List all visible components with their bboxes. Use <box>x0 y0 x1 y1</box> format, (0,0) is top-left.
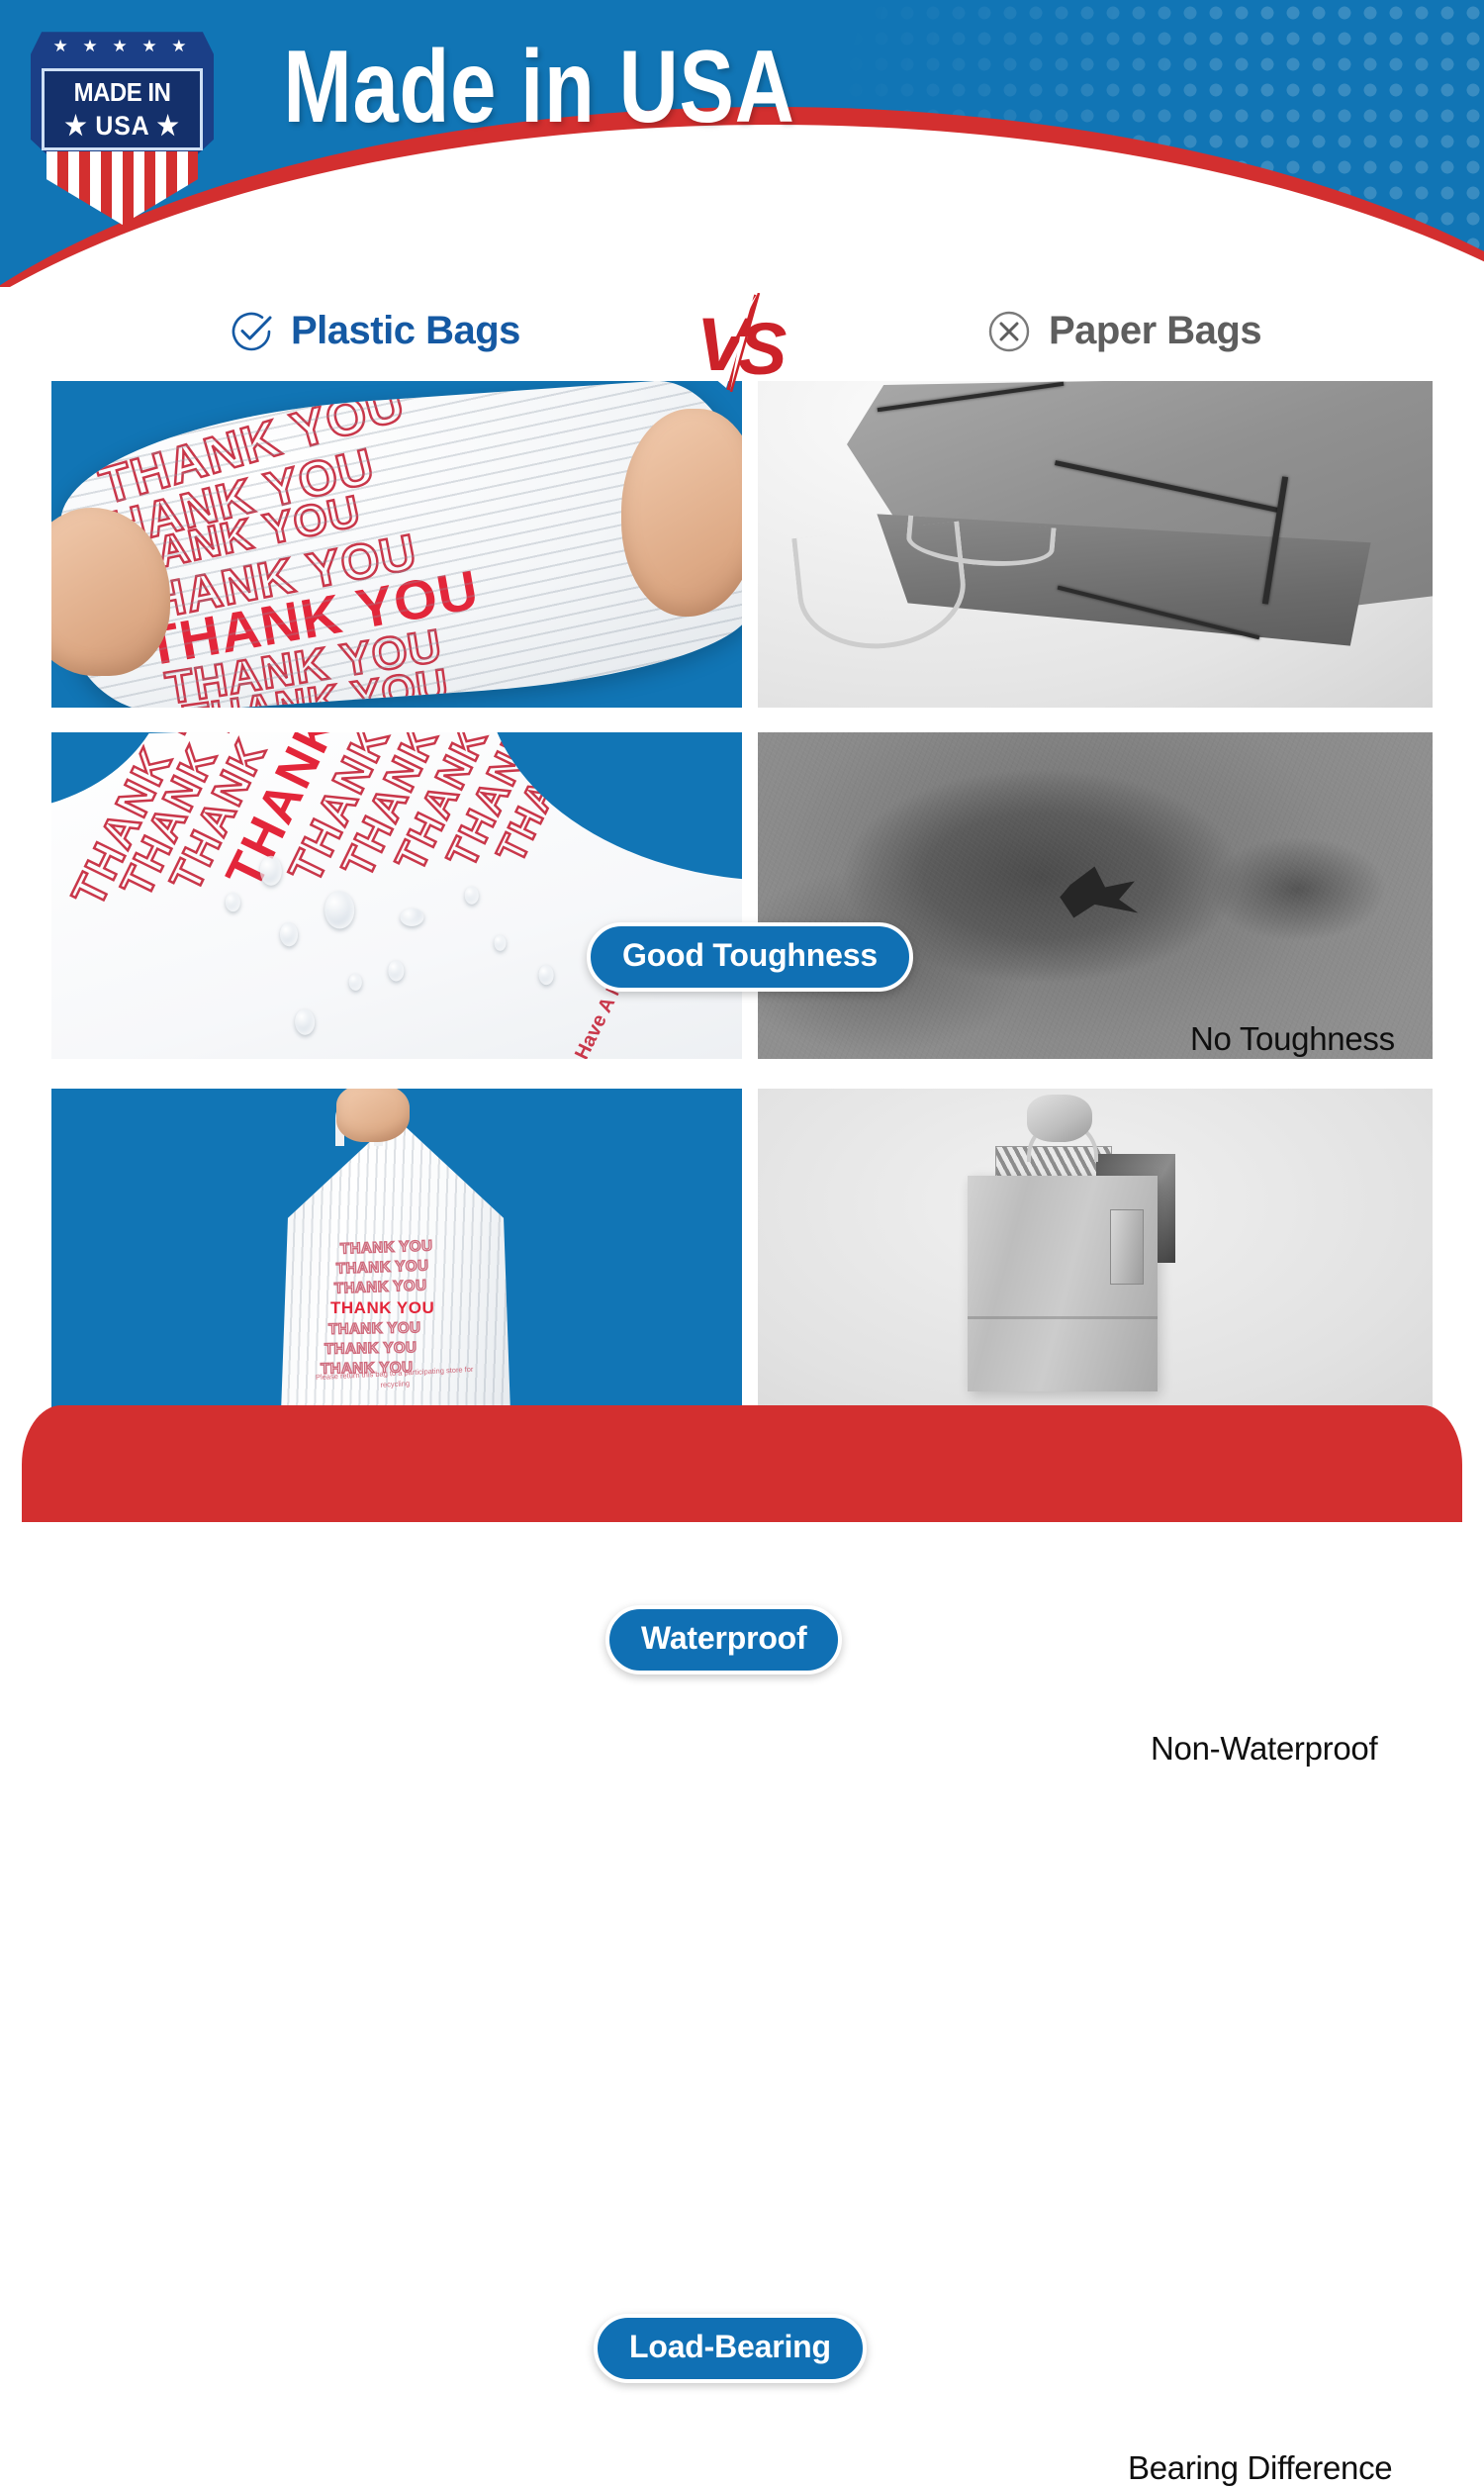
water-droplet <box>280 922 299 947</box>
hand-holding-paper-bag <box>1027 1095 1092 1142</box>
paper-photo-toughness <box>758 381 1433 708</box>
made-in-usa-badge: ★ ★ ★ ★ ★ MADE IN ★ USA ★ <box>31 22 214 225</box>
badge-flag-stripes <box>46 151 198 225</box>
thank-you-line: THANK YOU <box>340 1237 433 1257</box>
comparison-row-waterproof: THANK YOU THANK YOU THANK YOU THANK YOU … <box>0 732 1484 1059</box>
water-droplet <box>538 965 554 986</box>
plastic-photo-waterproof: THANK YOU THANK YOU THANK YOU THANK YOU … <box>51 732 742 1059</box>
water-droplet <box>464 886 479 904</box>
hand-holding-bag <box>336 1089 410 1142</box>
badge-top-stars: ★ ★ ★ ★ ★ <box>31 38 214 54</box>
thank-you-line: THANK YOU <box>328 1319 421 1338</box>
svg-text:VS: VS <box>693 293 695 294</box>
paper-bag-fold-line <box>968 1316 1158 1319</box>
thank-you-line: THANK YOU <box>336 1257 429 1277</box>
plastic-bags-heading: Plastic Bags <box>230 309 520 353</box>
paper-bags-heading: Paper Bags <box>987 309 1261 353</box>
feature-pill-waterproof: Waterproof <box>605 1605 842 1674</box>
page-title: Made in USA <box>108 36 971 139</box>
thank-you-line-bold: THANK YOU <box>330 1298 434 1318</box>
comparison-row-toughness: THANK YOU THANK YOU THANK YOU THANK YOU … <box>0 381 1484 708</box>
check-circle-icon <box>230 310 273 353</box>
caption-bearing-difference: Bearing Difference <box>1128 2449 1392 2487</box>
water-droplet <box>259 855 282 886</box>
water-droplet <box>295 1008 316 1035</box>
comparison-row-load-bearing: THANK YOU THANK YOU THANK YOU THANK YOU … <box>0 1089 1484 1415</box>
feature-pill-load-bearing: Load-Bearing <box>594 2314 867 2383</box>
badge-text-plate: MADE IN ★ USA ★ <box>42 68 203 150</box>
paper-photo-waterproof <box>758 732 1433 1059</box>
badge-usa-text: ★ USA ★ <box>50 111 193 142</box>
svg-text:S: S <box>738 308 787 390</box>
paper-bags-label: Paper Bags <box>1049 309 1261 353</box>
water-droplet <box>494 935 507 951</box>
x-circle-icon <box>987 310 1031 353</box>
footer-red-bar <box>22 1405 1462 1522</box>
comparison-header-row: Plastic Bags V S VS Paper Bags <box>0 297 1484 376</box>
bag-contents-side <box>1110 1209 1144 1285</box>
water-droplet <box>400 908 424 926</box>
water-droplet <box>388 960 405 982</box>
thank-you-line: THANK YOU <box>325 1339 417 1358</box>
feature-pill-good-toughness: Good Toughness <box>587 922 913 992</box>
water-droplet <box>348 974 362 991</box>
paper-photo-load-bearing <box>758 1089 1433 1415</box>
header-banner: ★ ★ ★ ★ ★ MADE IN ★ USA ★ Made in USA <box>0 0 1484 287</box>
thank-you-line: THANK YOU <box>334 1277 427 1296</box>
water-droplet <box>226 893 241 912</box>
plastic-photo-toughness: THANK YOU THANK YOU THANK YOU THANK YOU … <box>51 381 742 708</box>
versus-badge: V S VS <box>693 293 801 392</box>
plastic-bags-label: Plastic Bags <box>291 309 520 353</box>
badge-made-in-text: MADE IN <box>50 77 193 108</box>
water-droplet <box>325 891 355 929</box>
caption-no-toughness: No Toughness <box>1190 1020 1395 1058</box>
plastic-photo-load-bearing: THANK YOU THANK YOU THANK YOU THANK YOU … <box>51 1089 742 1415</box>
caption-non-waterproof: Non-Waterproof <box>1151 1730 1377 1768</box>
